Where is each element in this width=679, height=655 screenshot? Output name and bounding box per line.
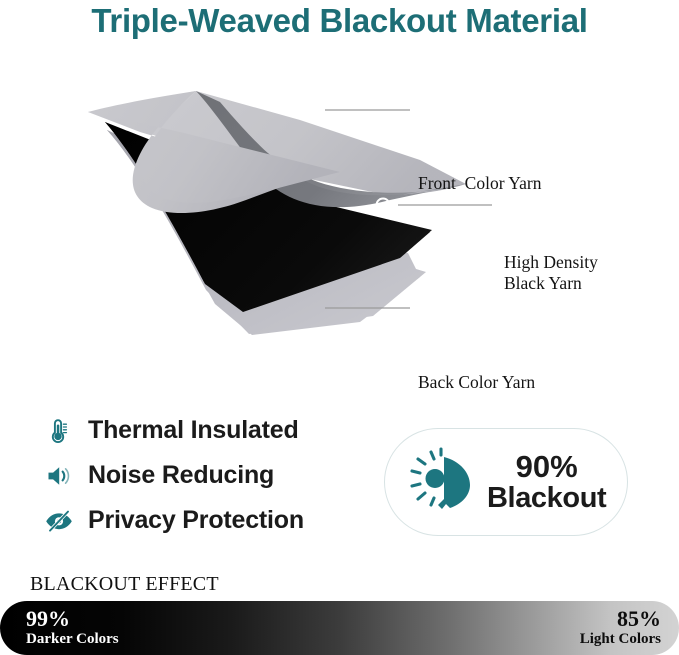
- thermometer-icon: [44, 416, 74, 446]
- feature-label-noise-reducing: Noise Reducing: [88, 461, 274, 490]
- speaker-icon: [44, 461, 74, 491]
- blackout-badge: 90% Blackout: [384, 428, 628, 536]
- label-back-color-yarn: Back Color Yarn: [418, 372, 535, 393]
- blackout-percent: 90%: [487, 450, 606, 483]
- feature-privacy-protection: Privacy Protection: [44, 498, 374, 543]
- triple-layer-fabric-diagram: Front Color Yarn High DensityBlack Yarn …: [0, 72, 679, 362]
- feature-list: Thermal Insulated Noise Reducing Privacy…: [44, 408, 374, 543]
- feature-label-thermal-insulated: Thermal Insulated: [88, 416, 299, 445]
- light-colors-caption: Light Colors: [580, 630, 661, 649]
- blackout-badge-text: 90% Blackout: [487, 450, 606, 515]
- light-colors-percent: 85%: [617, 608, 661, 630]
- feature-label-privacy-protection: Privacy Protection: [88, 506, 304, 535]
- eye-off-icon: [44, 506, 74, 536]
- blackout-effect-right-value: 85% Light Colors: [580, 601, 661, 655]
- blackout-word: Blackout: [487, 483, 606, 514]
- label-high-density-line2: Black Yarn: [504, 273, 582, 293]
- feature-noise-reducing: Noise Reducing: [44, 453, 374, 498]
- label-front-color-yarn: Front Color Yarn: [418, 173, 542, 194]
- label-high-density-black-yarn: High DensityBlack Yarn: [504, 252, 598, 293]
- darker-colors-percent: 99%: [26, 608, 70, 630]
- darker-colors-caption: Darker Colors: [26, 630, 119, 649]
- page-title: Triple-Weaved Blackout Material: [0, 2, 679, 40]
- sun-blocked-icon: [403, 446, 479, 518]
- blackout-effect-left-value: 99% Darker Colors: [26, 601, 119, 655]
- feature-thermal-insulated: Thermal Insulated: [44, 408, 374, 453]
- blackout-effect-heading: BLACKOUT EFFECT: [30, 573, 219, 596]
- label-high-density-line1: High Density: [504, 252, 598, 272]
